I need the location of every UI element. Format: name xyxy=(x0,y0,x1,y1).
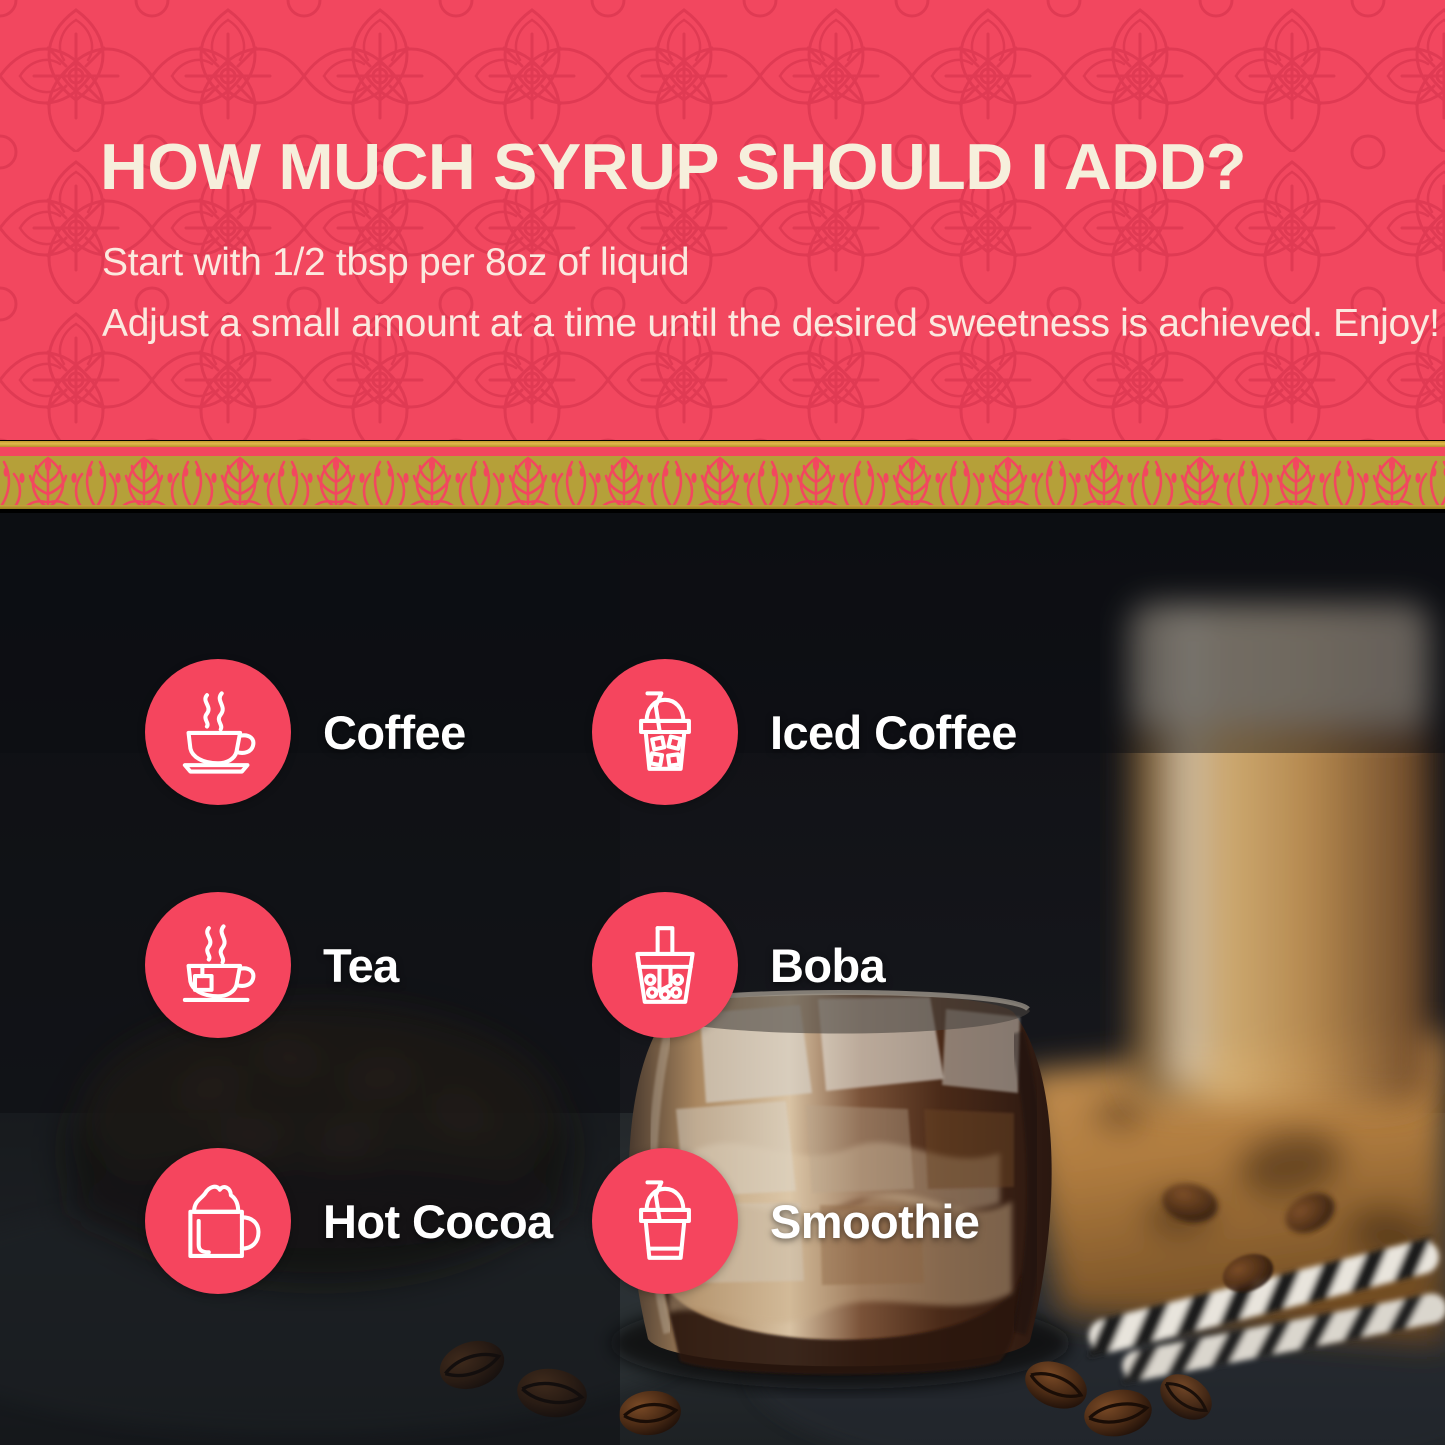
coffee-bubble xyxy=(145,659,291,805)
page-title: HOW MUCH SYRUP SHOULD I ADD? xyxy=(100,134,1246,199)
divider-bottom-rule xyxy=(0,505,1445,509)
header-banner: HOW MUCH SYRUP SHOULD I ADD? Start with … xyxy=(0,0,1445,440)
divider-motif-band xyxy=(0,456,1445,509)
drink-label-coffee: Coffee xyxy=(323,709,466,756)
boba-bubble xyxy=(592,892,738,1038)
drink-label-iced-coffee: Iced Coffee xyxy=(770,709,1017,756)
coffee-cup-icon xyxy=(172,686,264,778)
tea-cup-icon xyxy=(172,919,264,1011)
smoothie-cup-icon xyxy=(619,1175,711,1267)
drink-item-smoothie[interactable]: Smoothie xyxy=(592,1148,979,1294)
drink-label-smoothie: Smoothie xyxy=(770,1198,979,1245)
divider-leaf-pattern-icon xyxy=(0,456,1445,509)
infographic-page: HOW MUCH SYRUP SHOULD I ADD? Start with … xyxy=(0,0,1445,1445)
drink-label-hot-cocoa: Hot Cocoa xyxy=(323,1198,553,1245)
drink-item-coffee[interactable]: Coffee xyxy=(145,659,466,805)
drink-item-hot-cocoa[interactable]: Hot Cocoa xyxy=(145,1148,553,1294)
boba-cup-icon xyxy=(619,919,711,1011)
drink-item-boba[interactable]: Boba xyxy=(592,892,885,1038)
drink-item-tea[interactable]: Tea xyxy=(145,892,399,1038)
drink-item-iced-coffee[interactable]: Iced Coffee xyxy=(592,659,1017,805)
hot-cocoa-bubble xyxy=(145,1148,291,1294)
smoothie-bubble xyxy=(592,1148,738,1294)
iced-coffee-bubble xyxy=(592,659,738,805)
drink-label-tea: Tea xyxy=(323,942,399,989)
subtitle-line-1: Start with 1/2 tbsp per 8oz of liquid xyxy=(102,243,689,282)
subtitle-line-2: Adjust a small amount at a time until th… xyxy=(102,304,1440,343)
ornamental-divider xyxy=(0,441,1445,513)
divider-pink-gap xyxy=(0,447,1445,456)
drink-options-grid: Coffee Iced Coffee xyxy=(0,513,1445,1445)
tea-bubble xyxy=(145,892,291,1038)
drink-label-boba: Boba xyxy=(770,942,885,989)
iced-coffee-icon xyxy=(619,686,711,778)
hot-cocoa-icon xyxy=(172,1175,264,1267)
header-text-block: HOW MUCH SYRUP SHOULD I ADD? Start with … xyxy=(100,0,1370,440)
